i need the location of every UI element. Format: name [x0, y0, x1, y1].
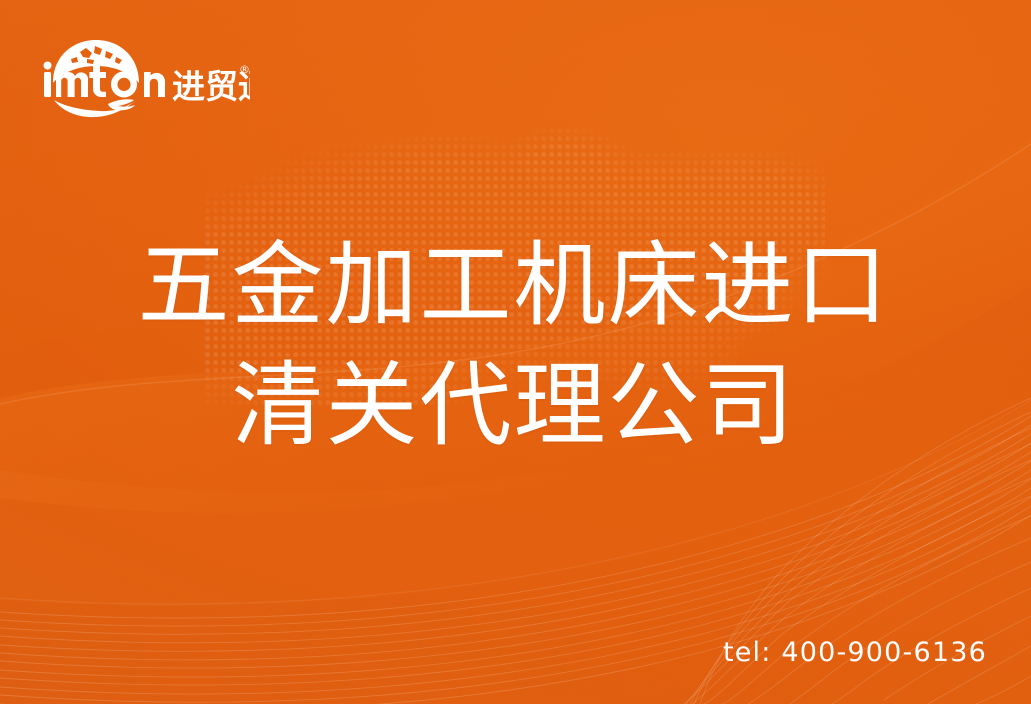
contact-phone[interactable]: tel: 400-900-6136	[723, 637, 987, 668]
page-title: 五金加工机床进口 清关代理公司	[0, 226, 1031, 466]
logo-wordmark-chinese: 进贸通 ®	[172, 63, 250, 106]
promo-banner: 进贸通 ® 五金加工机床进口 清关代理公司 tel: 400-900-6136	[0, 0, 1031, 704]
headline-line-2: 清关代理公司	[0, 346, 1031, 466]
brand-logo[interactable]: 进贸通 ®	[40, 26, 250, 118]
headline-line-1: 五金加工机床进口	[0, 226, 1031, 346]
logo-trademark-mark: ®	[239, 63, 250, 76]
